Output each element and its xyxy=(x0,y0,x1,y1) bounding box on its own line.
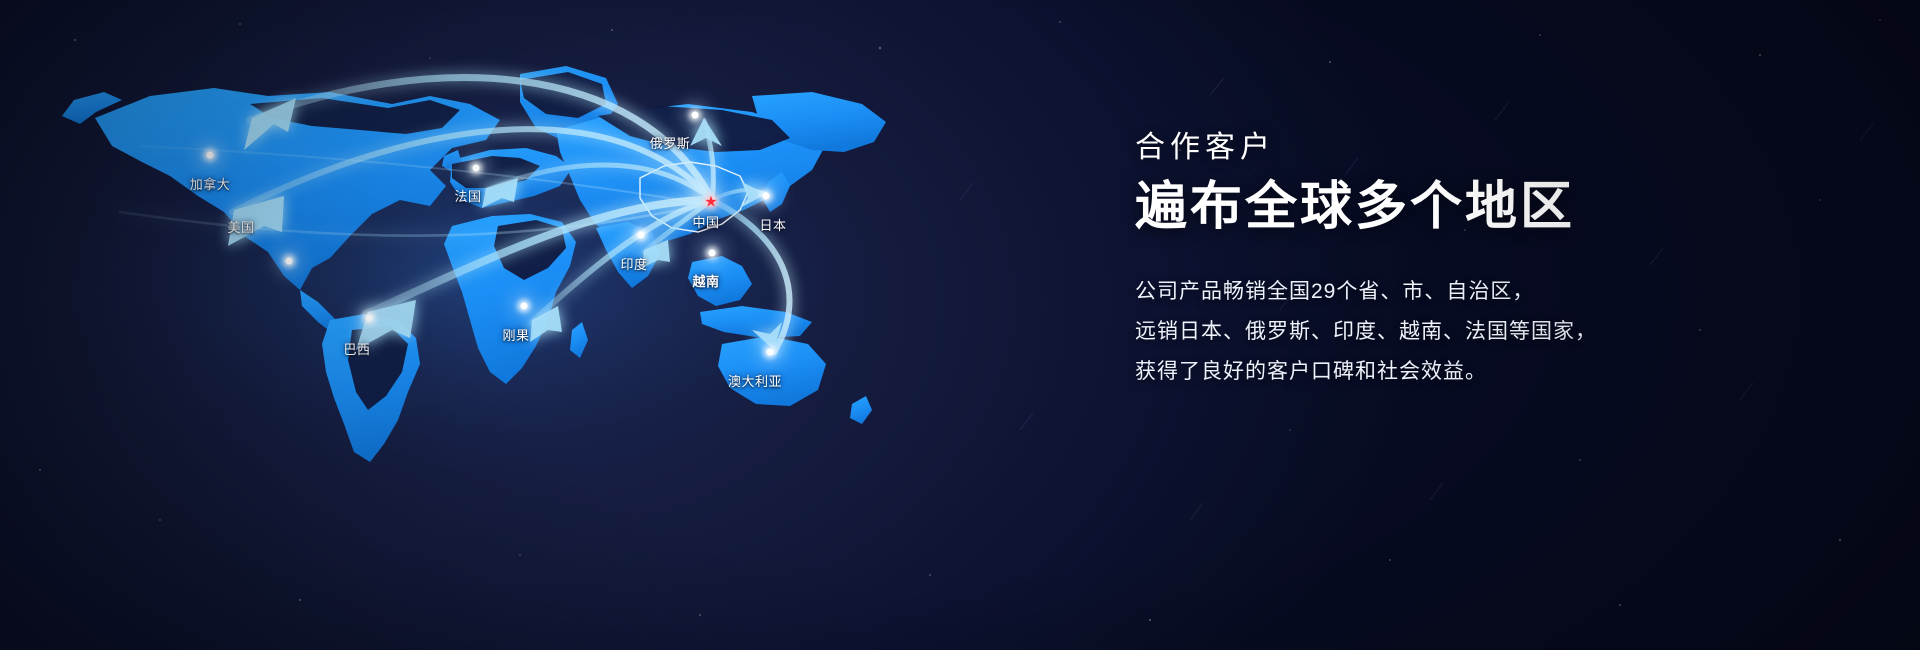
map-label-brazil: 巴西 xyxy=(343,343,370,356)
marker-dot-usa xyxy=(286,258,293,265)
map-label-australia: 澳大利亚 xyxy=(728,375,782,388)
marker-dot-russia xyxy=(692,112,699,119)
global-clients-banner: 加拿大美国巴西法国刚果印度俄罗斯中国越南日本澳大利亚 ★ 合作客户 遍布全球多个… xyxy=(0,0,1920,650)
map-label-india: 印度 xyxy=(620,258,647,271)
marker-dot-australia xyxy=(767,349,774,356)
map-label-congo: 刚果 xyxy=(502,329,529,342)
page-title: 遍布全球多个地区 xyxy=(1135,178,1835,238)
eyebrow-text: 合作客户 xyxy=(1135,130,1835,166)
marker-dot-vietnam xyxy=(709,250,716,257)
marker-dot-brazil xyxy=(366,315,373,322)
map-label-usa: 美国 xyxy=(227,221,254,234)
map-label-japan: 日本 xyxy=(759,219,786,232)
marker-dot-india xyxy=(638,232,645,239)
description-line-2: 远销日本、俄罗斯、印度、越南、法国等国家， xyxy=(1135,312,1835,352)
map-label-russia: 俄罗斯 xyxy=(650,137,691,150)
marker-dot-canada xyxy=(207,152,214,159)
map-label-china: 中国 xyxy=(692,216,719,229)
world-map: 加拿大美国巴西法国刚果印度俄罗斯中国越南日本澳大利亚 ★ xyxy=(0,0,960,650)
marker-dot-japan xyxy=(763,193,770,200)
map-label-vietnam: 越南 xyxy=(692,275,719,288)
copy-block: 合作客户 遍布全球多个地区 公司产品畅销全国29个省、市、自治区，远销日本、俄罗… xyxy=(1135,130,1835,392)
description-paragraph: 公司产品畅销全国29个省、市、自治区，远销日本、俄罗斯、印度、越南、法国等国家，… xyxy=(1135,272,1835,392)
marker-dot-congo xyxy=(521,303,528,310)
map-label-canada: 加拿大 xyxy=(190,178,231,191)
description-line-3: 获得了良好的客户口碑和社会效益。 xyxy=(1135,352,1835,392)
marker-dot-france xyxy=(473,165,480,172)
map-label-france: 法国 xyxy=(454,190,481,203)
description-line-1: 公司产品畅销全国29个省、市、自治区， xyxy=(1135,272,1835,312)
china-origin-star-icon: ★ xyxy=(704,195,717,210)
